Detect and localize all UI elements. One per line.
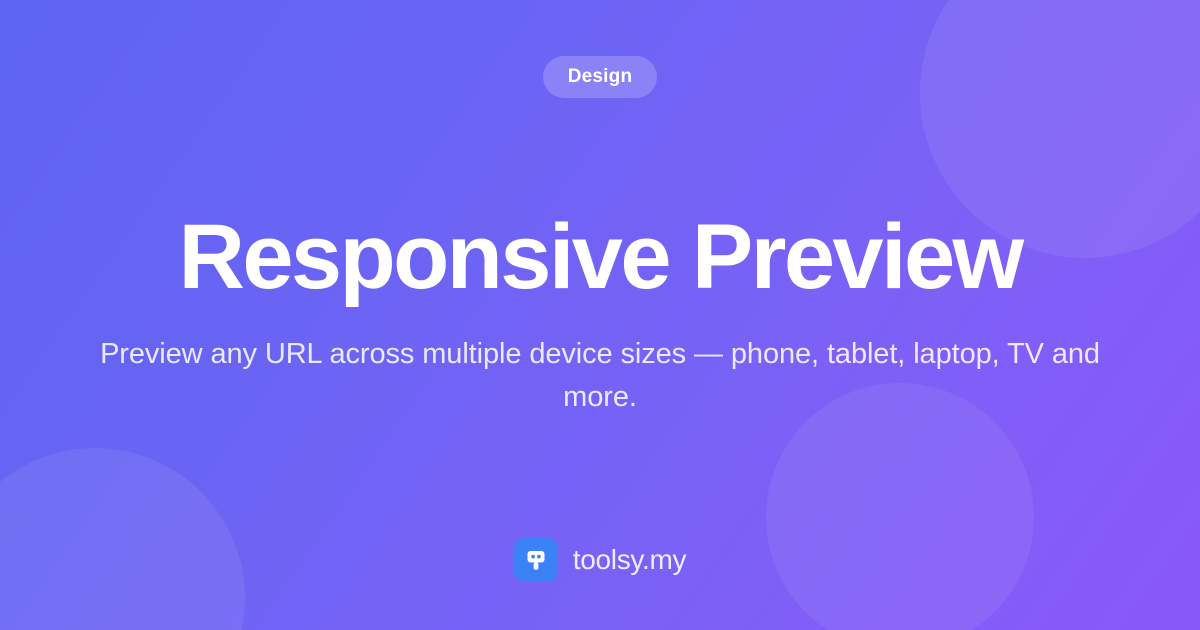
brand-name: toolsy.my: [573, 544, 686, 576]
page-subtitle: Preview any URL across multiple device s…: [68, 333, 1133, 419]
og-preview-card: Design Responsive Preview Preview any UR…: [0, 0, 1200, 630]
robot-icon: [514, 538, 558, 582]
card-content: Design Responsive Preview Preview any UR…: [0, 0, 1200, 630]
hero-section: Responsive Preview Preview any URL acros…: [64, 90, 1136, 538]
brand-footer: toolsy.my: [514, 538, 686, 582]
page-title: Responsive Preview: [179, 209, 1022, 307]
